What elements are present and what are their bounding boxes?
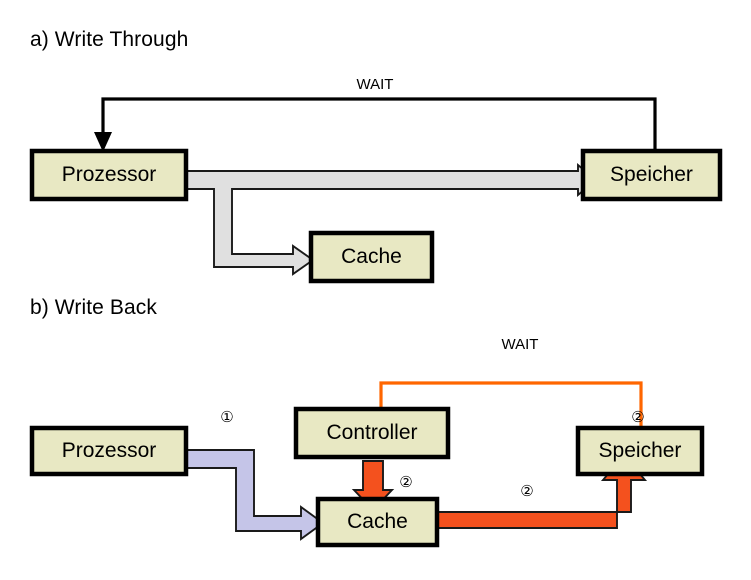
step-marker-2-cache: ②: [506, 470, 548, 512]
step-marker-2-controller: ②: [385, 461, 427, 503]
wait-label-a: WAIT: [305, 76, 445, 93]
node-prozessor-b: [32, 428, 186, 474]
node-speicher-a: [583, 151, 720, 199]
section-title-b: b) Write Back: [30, 296, 157, 320]
wait-label-b: WAIT: [450, 336, 590, 353]
edge-wait-a: [94, 99, 655, 152]
step-marker-2-wait: ②: [617, 396, 659, 438]
node-cache-a: [311, 233, 432, 281]
section-title-a: a) Write Through: [30, 28, 188, 52]
node-prozessor-a: [32, 151, 186, 199]
edge-proz-to-cache-b: [186, 450, 323, 539]
node-cache-b: [318, 499, 437, 545]
figure-canvas: a) Write Through WAIT Prozessor Speicher…: [0, 0, 751, 580]
node-controller-b: [296, 409, 448, 457]
step-marker-1: ①: [206, 396, 248, 438]
